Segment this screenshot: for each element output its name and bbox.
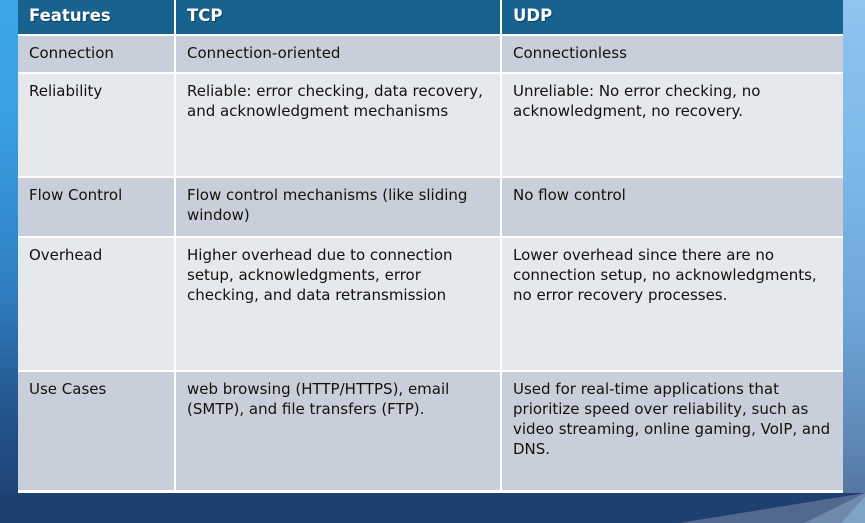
cell-tcp-use-cases: web browsing (HTTP/HTTPS), email (SMTP),… — [176, 372, 502, 492]
table-row: Reliability Reliable: error checking, da… — [18, 74, 843, 178]
column-header-features: Features — [18, 0, 176, 36]
cell-udp-flow-control: No flow control — [502, 178, 843, 238]
table-body: Connection Connection-oriented Connectio… — [18, 36, 843, 492]
cell-tcp-connection: Connection-oriented — [176, 36, 502, 74]
column-header-udp: UDP — [502, 0, 843, 36]
header-row: Features TCP UDP — [18, 0, 843, 36]
footer-band — [0, 493, 865, 523]
cell-udp-use-cases: Used for real-time applications that pri… — [502, 372, 843, 492]
cell-feature-reliability: Reliability — [18, 74, 176, 178]
table-row: Overhead Higher overhead due to connecti… — [18, 238, 843, 372]
cell-feature-connection: Connection — [18, 36, 176, 74]
left-accent-bar — [0, 0, 18, 523]
cell-tcp-flow-control: Flow control mechanisms (like sliding wi… — [176, 178, 502, 238]
column-header-tcp: TCP — [176, 0, 502, 36]
cell-feature-use-cases: Use Cases — [18, 372, 176, 492]
right-accent-bar — [843, 0, 865, 523]
table-header: Features TCP UDP — [18, 0, 843, 36]
tcp-udp-comparison-table: Features TCP UDP Connection Connection-o… — [18, 0, 843, 492]
table-row: Flow Control Flow control mechanisms (li… — [18, 178, 843, 238]
cell-udp-overhead: Lower overhead since there are no connec… — [502, 238, 843, 372]
cell-tcp-reliability: Reliable: error checking, data recovery,… — [176, 74, 502, 178]
comparison-table-container: Features TCP UDP Connection Connection-o… — [18, 0, 843, 496]
cell-feature-overhead: Overhead — [18, 238, 176, 372]
cell-udp-connection: Connectionless — [502, 36, 843, 74]
cell-udp-reliability: Unreliable: No error checking, no acknow… — [502, 74, 843, 178]
cell-feature-flow-control: Flow Control — [18, 178, 176, 238]
table-row: Use Cases web browsing (HTTP/HTTPS), ema… — [18, 372, 843, 492]
cell-tcp-overhead: Higher overhead due to connection setup,… — [176, 238, 502, 372]
table-row: Connection Connection-oriented Connectio… — [18, 36, 843, 74]
slide: Features TCP UDP Connection Connection-o… — [0, 0, 865, 523]
